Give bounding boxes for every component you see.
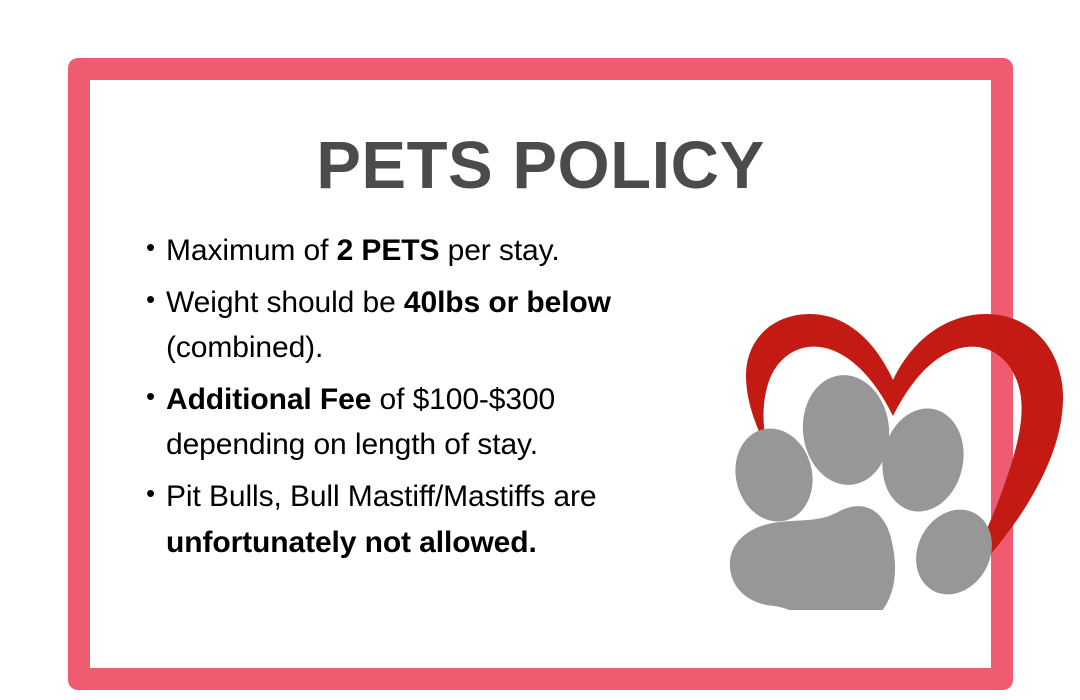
page-title: PETS POLICY: [90, 132, 991, 199]
list-item-text: Additional Fee: [166, 383, 371, 416]
list-item-max-pets: Maximum of 2 PETS per stay.: [144, 228, 664, 274]
list-item-weight-limit: Weight should be 40lbs or below (combine…: [144, 280, 664, 371]
heart-paw-logo: [718, 280, 1068, 610]
list-item-text: Pit Bulls, Bull Mastiff/Mastiffs are: [166, 480, 596, 513]
list-item-breed-restriction: Pit Bulls, Bull Mastiff/Mastiffs are unf…: [144, 474, 664, 565]
list-item-text: Weight should be: [166, 286, 404, 319]
paw-toe-3: [873, 401, 973, 519]
list-item-text: 40lbs or below: [404, 286, 611, 319]
list-item-text: unfortunately not allowed.: [166, 526, 537, 559]
poster-frame: PETS POLICY Maximum of 2 PETS per stay.W…: [68, 58, 1013, 690]
policy-list: Maximum of 2 PETS per stay.Weight should…: [144, 228, 664, 571]
paw-toe-4: [902, 496, 1007, 608]
paw-main-pad: [730, 506, 895, 610]
list-item-additional-fee: Additional Fee of $100-$300 depending on…: [144, 377, 664, 468]
list-item-text: 2 PETS: [337, 234, 440, 267]
list-item-text: Maximum of: [166, 234, 337, 267]
pets-policy-poster: PETS POLICY Maximum of 2 PETS per stay.W…: [0, 0, 1080, 700]
list-item-text: per stay.: [439, 234, 559, 267]
list-item-text: (combined).: [166, 331, 323, 364]
